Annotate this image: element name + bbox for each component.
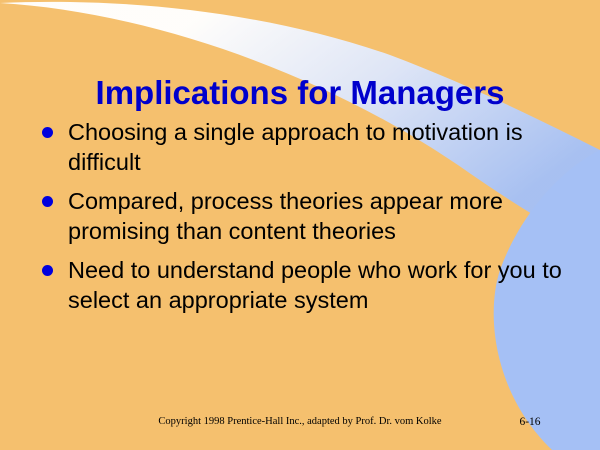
bullet-item: Choosing a single approach to motivation… bbox=[40, 117, 570, 177]
bullet-text: Choosing a single approach to motivation… bbox=[68, 117, 570, 177]
slide-title: Implications for Managers bbox=[0, 74, 600, 112]
bullet-text: Compared, process theories appear more p… bbox=[68, 186, 570, 246]
presentation-slide: Implications for Managers Choosing a sin… bbox=[0, 0, 600, 450]
page-number: 6-16 bbox=[500, 415, 560, 429]
bullet-point-icon bbox=[42, 265, 53, 276]
bullet-point-icon bbox=[42, 127, 53, 138]
bullet-point-icon bbox=[42, 196, 53, 207]
bullet-item: Need to understand people who work for y… bbox=[40, 255, 570, 315]
bullet-list: Choosing a single approach to motivation… bbox=[40, 117, 570, 324]
bullet-text: Need to understand people who work for y… bbox=[68, 255, 570, 315]
bullet-item: Compared, process theories appear more p… bbox=[40, 186, 570, 246]
